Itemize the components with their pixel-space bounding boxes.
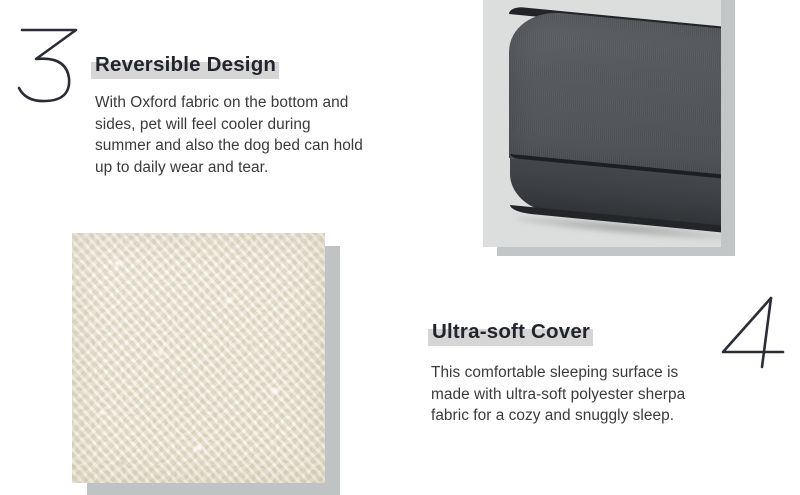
sherpa-fabric-texture: [72, 233, 325, 483]
body-line: up to daily wear and tear.: [95, 157, 415, 179]
feature-heading-text: Reversible Design: [95, 53, 276, 76]
product-photo-sherpa-fabric: [72, 233, 340, 495]
body-line: sides, pet will feel cooler during: [95, 114, 415, 136]
heading-highlight-band: Ultra-soft Cover: [428, 320, 593, 345]
photo-scene: [483, 0, 721, 247]
numeral-4-glyph: [717, 297, 787, 369]
feature-body-reversible-design: With Oxford fabric on the bottom and sid…: [95, 92, 415, 178]
body-line: With Oxford fabric on the bottom and: [95, 92, 415, 114]
feature-heading-reversible-design: Reversible Design: [91, 53, 279, 78]
product-feature-infographic: 3 Reversible Design With Oxford fabric o…: [0, 0, 800, 495]
feature-heading-ultra-soft-cover: Ultra-soft Cover: [428, 320, 593, 345]
body-line: summer and also the dog bed can hold: [95, 135, 415, 157]
feature-number-3: [16, 26, 82, 104]
heading-highlight-band: Reversible Design: [91, 53, 279, 78]
body-line: made with ultra-soft polyester sherpa: [431, 384, 761, 406]
body-line: This comfortable sleeping surface is: [431, 362, 761, 384]
body-line: fabric for a cozy and snuggly sleep.: [431, 405, 761, 427]
feature-heading-text: Ultra-soft Cover: [432, 320, 590, 343]
feature-number-4: [717, 297, 787, 369]
product-photo-oxford-bed: [483, 0, 735, 256]
numeral-3-glyph: [16, 26, 82, 104]
feature-body-ultra-soft-cover: This comfortable sleeping surface is mad…: [431, 362, 761, 427]
